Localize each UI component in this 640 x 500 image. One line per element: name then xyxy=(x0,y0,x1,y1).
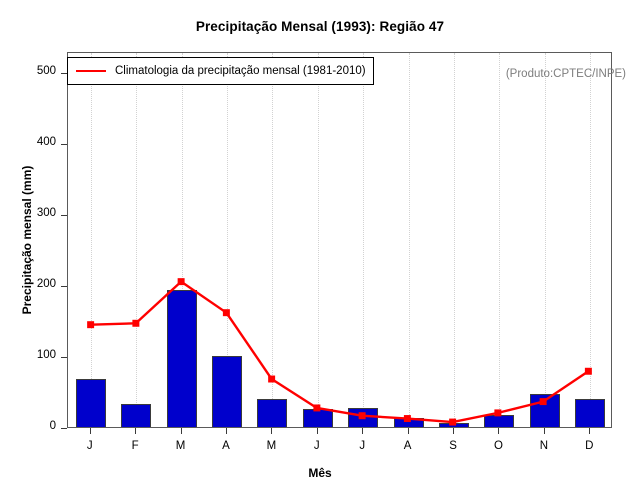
x-axis-tick xyxy=(498,428,499,434)
bar xyxy=(121,404,151,427)
x-axis-tick-label: J xyxy=(302,440,332,452)
gridline-vertical xyxy=(136,53,137,427)
gridline-vertical xyxy=(91,53,92,427)
bar xyxy=(530,394,560,427)
x-axis-tick xyxy=(362,428,363,434)
x-axis-tick-label: A xyxy=(393,440,423,452)
bar xyxy=(348,408,378,427)
x-axis-title: Mês xyxy=(0,466,640,480)
y-axis-tick-label: 400 xyxy=(0,136,56,148)
gridline-vertical xyxy=(272,53,273,427)
gridline-vertical xyxy=(363,53,364,427)
chart-legend: Climatologia da precipitação mensal (198… xyxy=(67,57,374,85)
x-axis-tick xyxy=(544,428,545,434)
x-axis-tick-label: J xyxy=(75,440,105,452)
bar xyxy=(439,423,469,427)
x-axis-tick xyxy=(271,428,272,434)
producer-annotation: (Produto:CPTEC/INPE) xyxy=(506,68,626,80)
y-axis-tick-label: 100 xyxy=(0,349,56,361)
bar xyxy=(303,409,333,427)
x-axis-tick xyxy=(453,428,454,434)
y-axis-tick xyxy=(61,428,67,429)
legend-line-swatch xyxy=(76,70,106,72)
y-axis-tick-label: 200 xyxy=(0,278,56,290)
x-axis-tick xyxy=(408,428,409,434)
legend-item-label: Climatologia da precipitação mensal (198… xyxy=(115,65,366,77)
x-axis-tick-label: D xyxy=(574,440,604,452)
climatology-line-series xyxy=(68,53,611,427)
plot-inner xyxy=(68,53,611,427)
x-axis-tick-label: F xyxy=(120,440,150,452)
climatology-line xyxy=(91,282,589,422)
y-axis-tick-label: 0 xyxy=(0,420,56,432)
y-axis-tick-label: 500 xyxy=(0,65,56,77)
gridline-vertical xyxy=(545,53,546,427)
bar xyxy=(575,399,605,427)
gridline-vertical xyxy=(454,53,455,427)
x-axis-tick-label: M xyxy=(166,440,196,452)
y-axis-title: Precipitação mensal (mm) xyxy=(20,166,34,315)
x-axis-tick xyxy=(90,428,91,434)
bar xyxy=(394,418,424,427)
x-axis-tick-label: N xyxy=(529,440,559,452)
x-axis-tick xyxy=(135,428,136,434)
bar xyxy=(212,356,242,427)
bar xyxy=(167,290,197,427)
x-axis-tick xyxy=(226,428,227,434)
chart-figure: Precipitação Mensal (1993): Região 47 Pr… xyxy=(0,0,640,500)
x-axis-tick-label: O xyxy=(483,440,513,452)
chart-title: Precipitação Mensal (1993): Região 47 xyxy=(0,19,640,34)
x-axis-tick xyxy=(589,428,590,434)
x-axis-tick-label: A xyxy=(211,440,241,452)
x-axis-tick-label: M xyxy=(256,440,286,452)
gridline-vertical xyxy=(499,53,500,427)
x-axis-tick xyxy=(181,428,182,434)
gridline-vertical xyxy=(318,53,319,427)
gridline-vertical xyxy=(590,53,591,427)
x-axis-tick-label: J xyxy=(347,440,377,452)
plot-area xyxy=(67,52,612,428)
gridline-vertical xyxy=(409,53,410,427)
bar xyxy=(257,399,287,427)
bar xyxy=(76,379,106,427)
x-axis-tick-label: S xyxy=(438,440,468,452)
x-axis-tick xyxy=(317,428,318,434)
y-axis-tick-label: 300 xyxy=(0,207,56,219)
bar xyxy=(484,415,514,427)
